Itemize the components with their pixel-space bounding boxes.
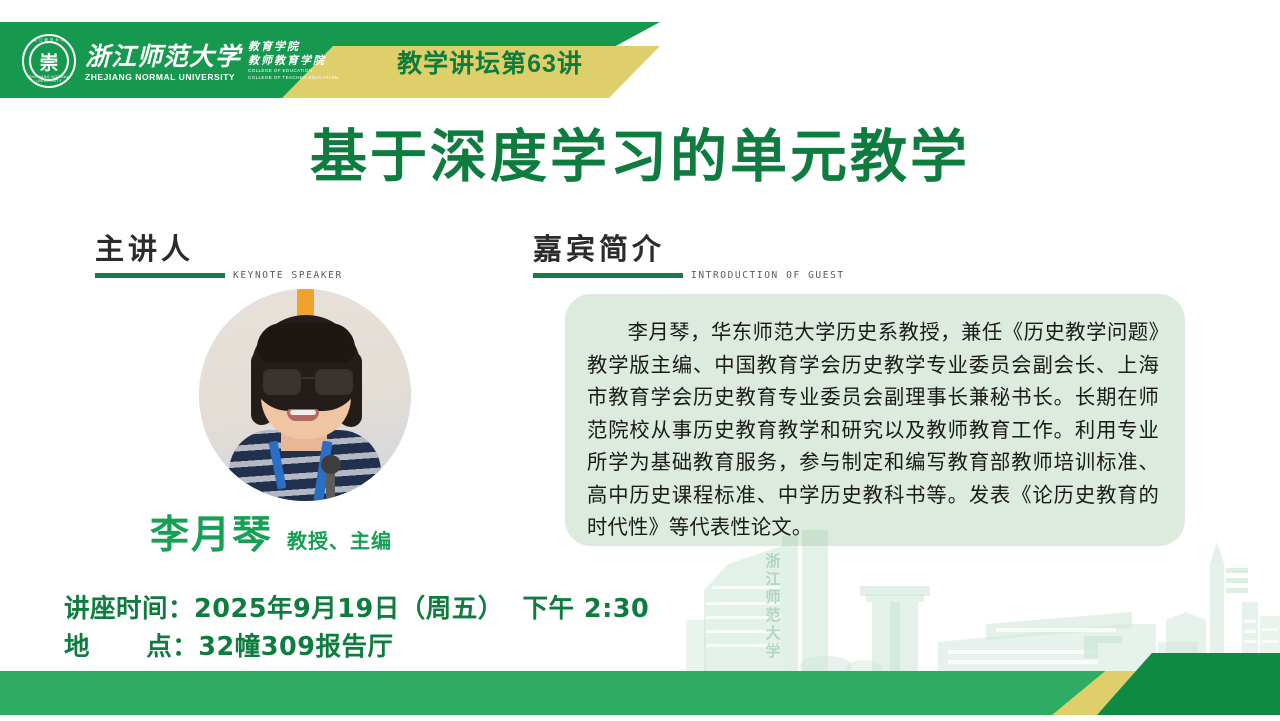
logo-wordmark: 浙江师范大学 ZHEJIANG NORMAL UNIVERSITY 教育学院 教… — [85, 40, 338, 81]
section-heading-guest: 嘉宾简介 INTRODUCTION OF GUEST — [533, 234, 845, 281]
speaker-portrait-photo — [199, 289, 411, 501]
section-heading-speaker-cn: 主讲人 — [95, 234, 343, 266]
portrait-bangs — [257, 323, 355, 363]
section-heading-guest-cn: 嘉宾简介 — [533, 234, 845, 266]
logo-university-en: ZHEJIANG NORMAL UNIVERSITY — [85, 72, 241, 82]
portrait-glasses-bridge — [297, 377, 315, 379]
lecture-series-label: 教学讲坛第63讲 — [360, 52, 620, 77]
guest-bio-card: 李月琴，华东师范大学历史系教授，兼任《历史教学问题》教学版主编、中国教育学会历史… — [565, 294, 1185, 546]
logo-college-cn-line2: 教师教育学院 — [248, 54, 338, 68]
footer-green-bar — [0, 671, 1280, 715]
logo-college-en-line2: COLLEGE OF TEACHER EDUCATION — [248, 75, 338, 82]
portrait-glasses-lens-right — [315, 369, 353, 395]
bottom-white-edge — [0, 715, 1280, 721]
schedule-time-line: 讲座时间：2025年9月19日（周五） 下午 2:30 — [64, 590, 649, 628]
schedule-block: 讲座时间：2025年9月19日（周五） 下午 2:30 地 点：32幢309报告… — [64, 590, 649, 666]
university-seal-icon: 浙 江 师 范 大 学 崇 ZHEJIANG NORMAL UNIVERSITY — [22, 34, 76, 88]
section-heading-speaker-underline-row: KEYNOTE SPEAKER — [95, 270, 343, 281]
logo-college-column: 教育学院 教师教育学院 COLLEGE OF EDUCATION COLLEGE… — [248, 40, 338, 81]
section-heading-speaker: 主讲人 KEYNOTE SPEAKER — [95, 234, 343, 281]
portrait-microphone-head — [321, 455, 341, 474]
logo-college-cn-line1: 教育学院 — [248, 40, 338, 54]
portrait-glasses-lens-left — [263, 369, 301, 395]
footer-dark-green-diagonal — [1097, 653, 1280, 715]
section-underline-bar — [95, 273, 225, 278]
schedule-place-line: 地 点：32幢309报告厅 — [64, 628, 649, 666]
campus-skyline-watermark-icon — [686, 524, 1280, 672]
speaker-name-row: 李月琴 教授、主编 — [150, 516, 392, 555]
section-heading-guest-en: INTRODUCTION OF GUEST — [691, 270, 845, 281]
portrait-glasses — [261, 369, 353, 391]
speaker-role: 教授、主编 — [287, 531, 392, 551]
seal-ring-bottom-text: ZHEJIANG NORMAL UNIVERSITY — [24, 75, 74, 83]
section-underline-bar — [533, 273, 683, 278]
footer-yellow-diagonal — [1052, 671, 1182, 715]
speaker-name: 李月琴 — [150, 516, 273, 555]
footer-band — [0, 671, 1280, 715]
logo-university-cn: 浙江师范大学 — [85, 44, 241, 70]
logo-university-column: 浙江师范大学 ZHEJIANG NORMAL UNIVERSITY — [85, 44, 241, 81]
poster-title: 基于深度学习的单元教学 — [0, 126, 1280, 189]
portrait-teeth — [290, 410, 316, 415]
section-heading-guest-underline-row: INTRODUCTION OF GUEST — [533, 270, 845, 281]
campus-watermark-vertical-text: 浙 江 师 范 大 学 — [762, 552, 784, 660]
lecture-poster: 浙 江 师 范 大 学 崇 ZHEJIANG NORMAL UNIVERSITY… — [0, 0, 1280, 721]
guest-bio-text: 李月琴，华东师范大学历史系教授，兼任《历史教学问题》教学版主编、中国教育学会历史… — [587, 316, 1159, 544]
logo-college-en-line1: COLLEGE OF EDUCATION — [248, 68, 338, 75]
section-heading-speaker-en: KEYNOTE SPEAKER — [233, 270, 343, 281]
university-logo: 浙 江 师 范 大 学 崇 ZHEJIANG NORMAL UNIVERSITY… — [22, 34, 338, 88]
